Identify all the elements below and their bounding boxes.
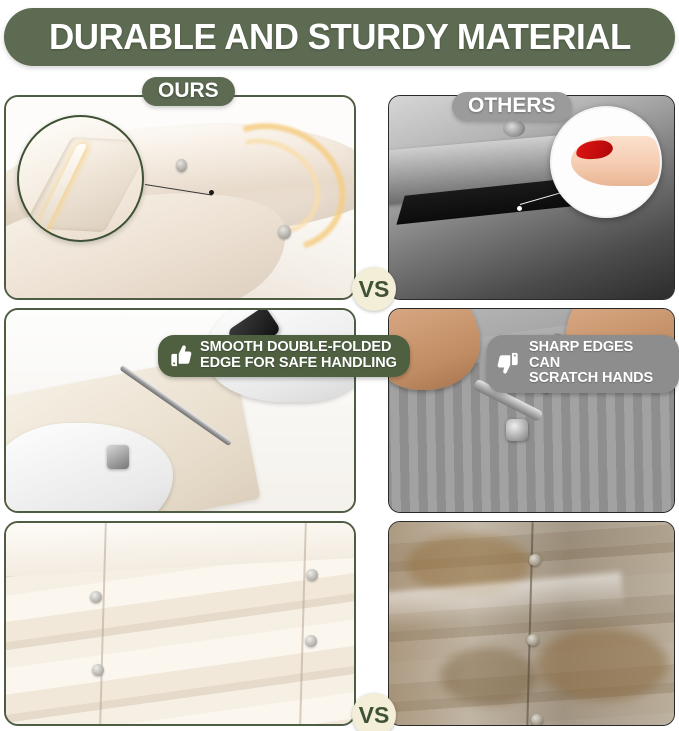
infographic-root: DURABLE AND STURDY MATERIAL OURS OTHERS (0, 0, 679, 731)
comparison-row-1: SMOOTH DOUBLE-FOLDED EDGE FOR SAFE HANDL… (0, 95, 679, 300)
bolt-icon (107, 445, 129, 469)
stainless-screw-icon (306, 569, 318, 581)
ours-panel-1 (4, 95, 356, 300)
stainless-screw-icon (92, 664, 104, 676)
screw-head-icon (176, 159, 187, 172)
others-panel-1 (388, 95, 675, 300)
others-image-3 (389, 522, 674, 725)
thumbs-up-icon (167, 343, 193, 369)
rusty-screw-icon (531, 714, 543, 726)
magnifier-inset-safe-edge (17, 115, 144, 242)
stainless-screw-icon (305, 635, 317, 647)
others-image-1 (389, 96, 674, 299)
others-caption-banner-1: SHARP EDGES CAN SCRATCH HANDS (487, 335, 679, 393)
page-title: DURABLE AND STURDY MATERIAL (49, 19, 631, 55)
rust-stain (537, 628, 668, 701)
rust-stain (440, 648, 537, 705)
ours-image-3 (6, 523, 354, 724)
others-caption-text-1: SHARP EDGES CAN SCRATCH HANDS (529, 340, 666, 387)
stainless-screw-icon (90, 591, 102, 603)
vs-badge-2: VS (352, 693, 396, 731)
vs-badge-1: VS (352, 267, 396, 311)
ours-caption-banner-1: SMOOTH DOUBLE-FOLDED EDGE FOR SAFE HANDL… (158, 335, 410, 377)
header-banner: DURABLE AND STURDY MATERIAL (4, 8, 675, 66)
nut-icon (506, 419, 528, 441)
comparison-row-3: STAINLESS STEEL SCREWS AND BOLTS EASY TO… (0, 521, 679, 726)
rusty-screw-icon (527, 634, 539, 646)
magnifier-inset-bleeding-finger (550, 106, 662, 218)
rusty-screw-icon (529, 554, 541, 566)
others-panel-3 (388, 521, 675, 726)
others-badge: OTHERS (452, 92, 572, 121)
ours-image-1 (6, 97, 354, 298)
ours-panel-3 (4, 521, 356, 726)
ours-badge: OURS (142, 77, 235, 106)
thumbs-down-icon (496, 350, 522, 376)
screw-head-icon (278, 225, 291, 239)
ours-caption-text-1: SMOOTH DOUBLE-FOLDED EDGE FOR SAFE HANDL… (200, 340, 397, 371)
